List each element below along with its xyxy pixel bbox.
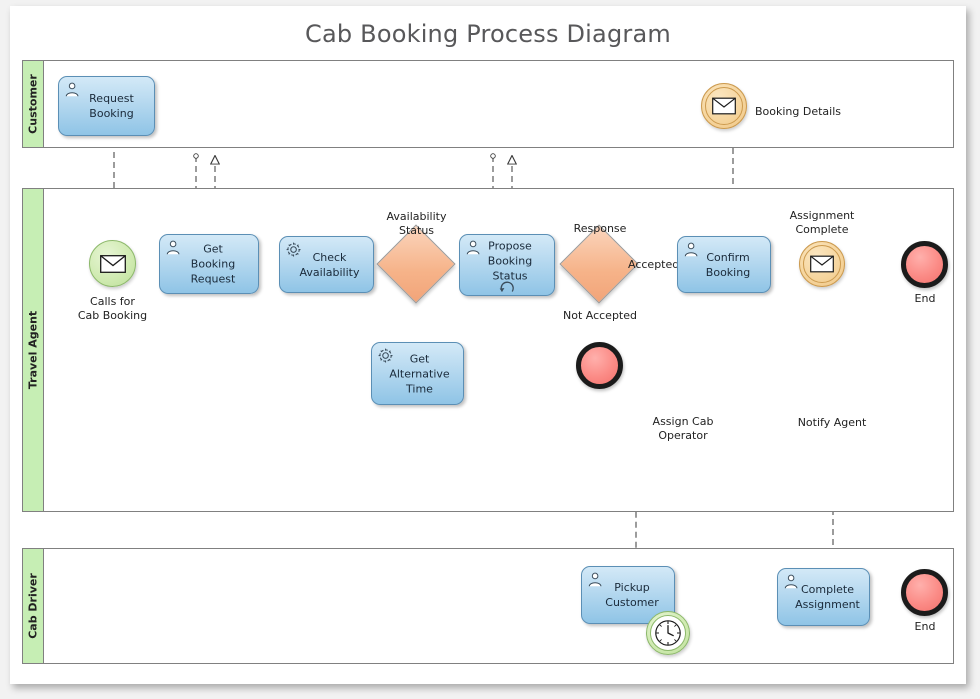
edge-label-assign-cab-operator: Assign Cab Operator	[623, 415, 743, 443]
task-propose-booking-status[interactable]: Propose Booking Status	[459, 234, 555, 296]
envelope-icon	[810, 256, 834, 273]
task-get-alternative-time[interactable]: Get Alternative Time	[371, 342, 464, 405]
lane-header-cab-driver: Cab Driver	[23, 549, 44, 663]
task-propose-booking-status-label: Propose Booking Status	[460, 239, 554, 284]
task-pickup-customer-label: Pickup Customer	[582, 580, 674, 610]
task-check-availability[interactable]: Check Availability	[279, 236, 374, 293]
diagram-page: Cab Booking Process Diagram	[10, 6, 966, 684]
task-get-booking-request[interactable]: Get Booking Request	[159, 234, 259, 294]
task-confirm-booking-label: Confirm Booking	[678, 250, 770, 280]
event-calls-for-cab-booking-label: Calls for Cab Booking	[60, 295, 165, 323]
task-request-booking[interactable]: Request Booking	[58, 76, 155, 136]
lane-label-cab-driver: Cab Driver	[27, 573, 40, 639]
task-complete-assignment[interactable]: Complete Assignment	[777, 568, 870, 626]
page-title: Cab Booking Process Diagram	[10, 20, 966, 48]
event-assignment-complete[interactable]	[799, 241, 845, 287]
task-check-availability-label: Check Availability	[280, 250, 373, 280]
event-calls-for-cab-booking[interactable]	[89, 240, 136, 287]
event-end-cab-driver[interactable]	[901, 569, 948, 616]
event-booking-details[interactable]	[701, 83, 747, 129]
event-booking-details-label: Booking Details	[755, 105, 841, 119]
event-assignment-complete-label: Assignment Complete	[770, 209, 874, 237]
loop-marker-icon	[498, 280, 516, 294]
pool-customer: Customer	[22, 60, 954, 148]
event-end-cab-driver-label: End	[890, 620, 960, 634]
envelope-icon	[100, 255, 126, 273]
task-get-booking-request-label: Get Booking Request	[160, 242, 258, 287]
task-request-booking-label: Request Booking	[59, 91, 154, 121]
event-end-travel-agent-label: End	[890, 292, 960, 306]
task-confirm-booking[interactable]: Confirm Booking	[677, 236, 771, 293]
event-boundary-timer-pickup[interactable]	[646, 611, 690, 655]
clock-icon	[653, 618, 683, 648]
event-end-travel-agent[interactable]	[901, 241, 948, 288]
task-get-alternative-time-label: Get Alternative Time	[372, 351, 463, 396]
lane-header-travel-agent: Travel Agent	[23, 189, 44, 511]
event-end-not-accepted[interactable]	[576, 342, 623, 389]
gateway-availability-status-label: Availability Status	[365, 210, 468, 238]
edge-label-notify-agent: Notify Agent	[780, 416, 884, 430]
lane-label-customer: Customer	[27, 74, 40, 134]
gateway-response-label: Response	[550, 222, 650, 236]
envelope-icon	[712, 98, 736, 115]
lane-label-travel-agent: Travel Agent	[27, 311, 40, 389]
edge-label-accepted: Accepted	[628, 258, 679, 272]
diagram-canvas: Cab Booking Process Diagram	[0, 0, 980, 699]
task-complete-assignment-label: Complete Assignment	[778, 582, 869, 612]
edge-label-not-accepted: Not Accepted	[549, 309, 651, 323]
lane-header-customer: Customer	[23, 61, 44, 147]
